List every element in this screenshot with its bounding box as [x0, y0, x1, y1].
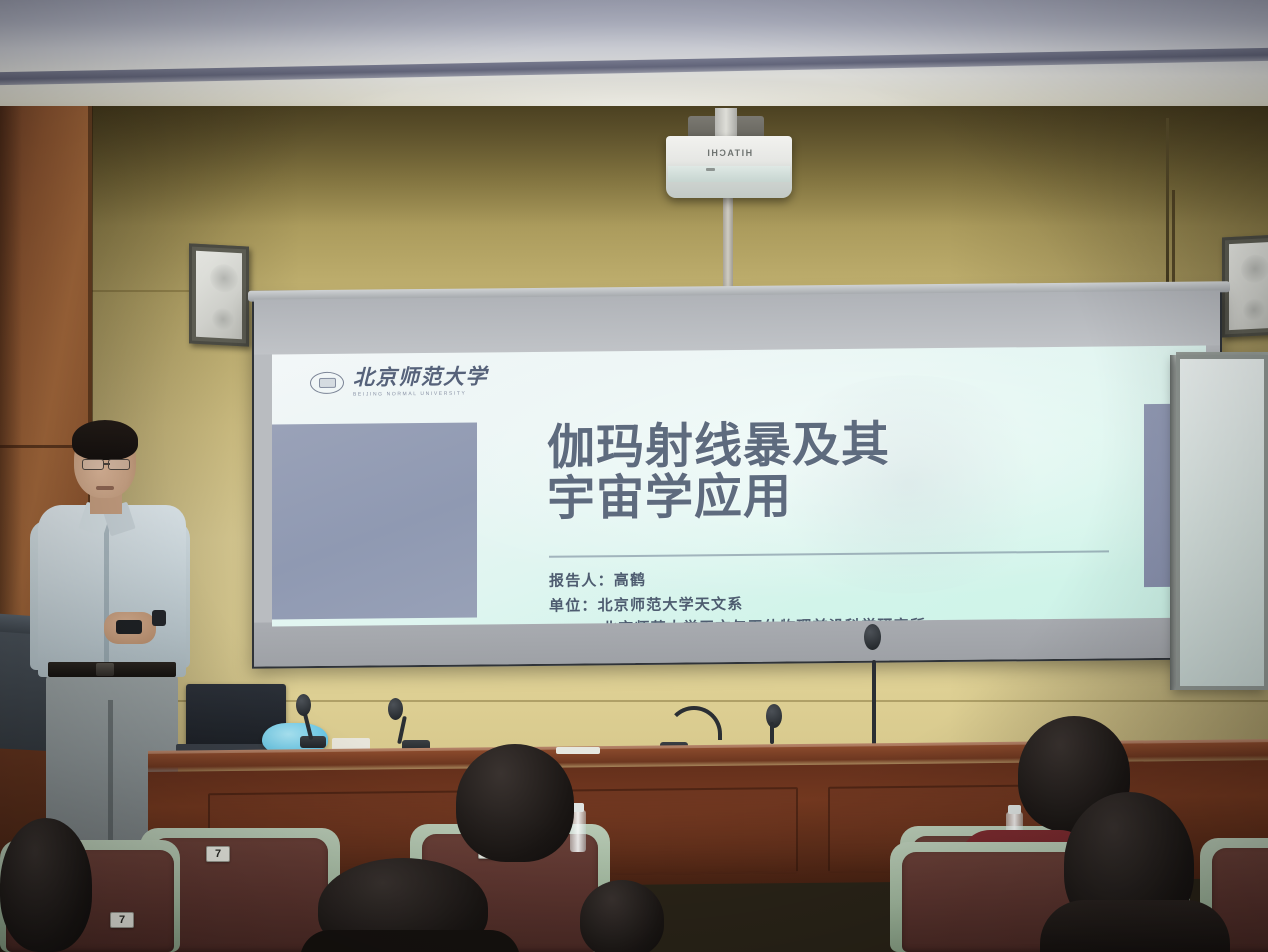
- microphone-head-1: [296, 694, 311, 716]
- microphone-neck-3: [770, 722, 774, 744]
- projected-slide: 北京师范大学 BEIJING NORMAL UNIVERSITY 伽玛射线暴及其…: [272, 345, 1206, 626]
- university-logo: 北京师范大学 BEIJING NORMAL UNIVERSITY: [310, 366, 488, 398]
- belt-buckle-icon: [96, 663, 114, 676]
- wall-speaker-left: [189, 243, 249, 346]
- speaker-grille: [196, 251, 242, 339]
- paper-on-desk: [556, 747, 600, 754]
- lecture-hall-photo: HITACHI 北京师范大学 BEIJING NORMAL UNIVERSITY: [0, 0, 1268, 952]
- microphone-neck-4: [872, 660, 876, 748]
- projector-brand-label: HITACHI: [690, 148, 768, 162]
- slide-title-line-2: 宇宙学应用: [547, 469, 1167, 526]
- logo-chinese-name: 北京师范大学: [353, 366, 488, 388]
- slide-title: 伽玛射线暴及其 宇宙学应用: [547, 418, 1167, 526]
- seat-number-badge: 7: [110, 912, 134, 928]
- screen-top-margin: [254, 290, 1220, 354]
- slide-accent-block-left: [272, 422, 477, 619]
- slide-title-line-1: 伽玛射线暴及其: [547, 418, 1167, 475]
- presenter-shirt-placket: [104, 520, 109, 670]
- slide-affiliation-line-1: 单位：北京师范大学天文系: [549, 593, 743, 616]
- speaker-cone-top: [210, 264, 238, 293]
- speaker-grille: [1229, 242, 1268, 330]
- speaker-cone-bottom: [1243, 298, 1265, 321]
- attendee-shoulders-4: [300, 930, 520, 952]
- logo-emblem-icon: [310, 372, 344, 394]
- glasses-icon: [82, 459, 104, 470]
- projector-icon: HITACHI: [666, 136, 792, 198]
- hanging-cable: [1166, 118, 1169, 304]
- remote-clicker-icon: [116, 620, 142, 634]
- attendee-head-5: [580, 880, 664, 952]
- projection-screen: 北京师范大学 BEIJING NORMAL UNIVERSITY 伽玛射线暴及其…: [252, 288, 1222, 668]
- speaker-cone-top: [1241, 254, 1268, 283]
- microphone-head-2: [388, 698, 403, 720]
- attendee-shoulders-6: [1040, 900, 1230, 952]
- microphone-head-3: [766, 704, 782, 728]
- logo-english-name: BEIJING NORMAL UNIVERSITY: [353, 390, 488, 397]
- glasses-lens-right: [108, 459, 130, 470]
- glasses-bridge: [103, 463, 110, 465]
- microphone-head-4: [864, 624, 881, 650]
- attendee-head-1: [456, 744, 574, 862]
- attendee-head-3: [0, 818, 92, 952]
- logo-emblem-inner: [319, 378, 336, 388]
- slide-speaker-line: 报告人：高鹤: [549, 569, 646, 591]
- whiteboard-panel-right: [1176, 355, 1268, 690]
- presenter-hair: [72, 420, 138, 460]
- presenter-trouser-crease: [108, 700, 113, 854]
- bottle-cap-2: [1008, 805, 1021, 814]
- wristwatch-icon: [152, 610, 166, 626]
- projector-lens-band: [668, 166, 790, 182]
- presenter-mouth: [96, 486, 114, 490]
- projector-led: [706, 168, 715, 171]
- speaker-cone-bottom: [212, 308, 234, 331]
- seat-number-badge: 7: [206, 846, 230, 862]
